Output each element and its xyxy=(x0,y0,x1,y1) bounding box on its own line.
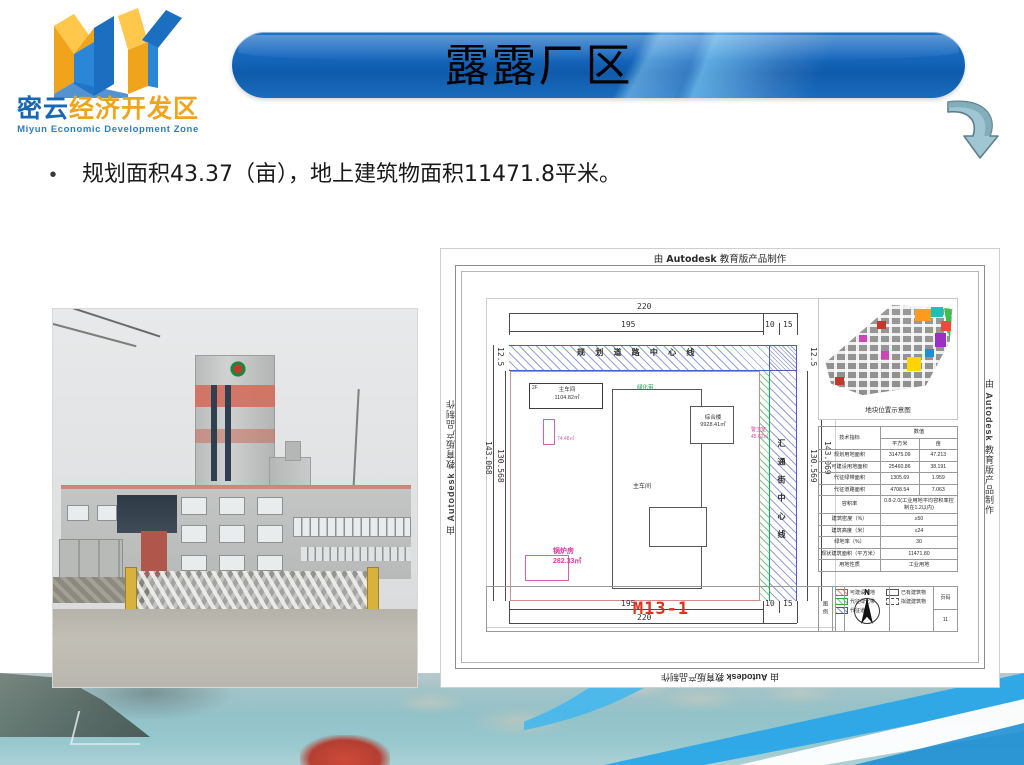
photo-window xyxy=(219,497,245,515)
cell-value: ≥50 xyxy=(881,514,958,526)
green-belt-band xyxy=(759,371,770,601)
dim-top-inner-line xyxy=(509,331,763,332)
th-unit-sqm: 平方米 xyxy=(881,438,920,450)
planned-road-centerline-label: 规 划 道 路 中 心 线 xyxy=(577,347,698,358)
table-row: 用地性质 工业用地 xyxy=(819,560,958,572)
locmap-parcel xyxy=(941,321,951,331)
parcel-code: M13-1 xyxy=(633,599,689,619)
building-workshop-area: 1104.82㎡ xyxy=(555,395,580,401)
legend-label: 拟建建筑物 xyxy=(901,598,926,605)
cell-mu: 38.191 xyxy=(919,461,958,473)
logo-chinese-name: 密云经济开发区 xyxy=(12,96,204,121)
cad-site-plan-sheet: 由 Autodesk 教育版产品制作 由 Autodesk 教育版产品制作 由 … xyxy=(440,248,1000,688)
photo-window xyxy=(181,497,207,515)
building-main-workshop xyxy=(612,389,702,589)
dim-right-inner-line xyxy=(807,371,808,601)
dim-top-outer-line xyxy=(509,313,797,314)
guard-room-name: 警卫室 xyxy=(751,427,766,433)
cell-name: 代征道路面积 xyxy=(819,484,881,496)
legend-item: 拟建建筑物 xyxy=(886,598,931,605)
building-sub-block xyxy=(649,507,707,547)
table-row: 现状建筑面积（平方米） 11471.80 xyxy=(819,548,958,560)
cell-name: 绿地率（%） xyxy=(819,537,881,549)
building-boiler-room-label: 锅炉房 282.33㎡ xyxy=(553,547,581,567)
locmap-parcel xyxy=(835,377,844,385)
sea-red-accent xyxy=(300,735,390,765)
photo-window xyxy=(97,505,117,521)
cell-sqm: 31475.09 xyxy=(881,450,920,462)
table-row: 建筑密度（%） ≥50 xyxy=(819,514,958,526)
green-belt-note: 绿化带 xyxy=(637,383,654,391)
cell-mu: 7.063 xyxy=(919,484,958,496)
locmap-parcel xyxy=(881,351,889,359)
dim-left-inner-line xyxy=(505,371,506,601)
dim-top-seg1: 10 xyxy=(765,320,775,329)
dim-top-seg2: 15 xyxy=(783,320,793,329)
bullet-item: • 规划面积43.37（亩），地上建筑物面积11471.8平米。 xyxy=(44,158,944,192)
legend-page-block: 页码 11 xyxy=(933,587,957,631)
bullet-marker: • xyxy=(44,165,62,185)
dim-left-small: 12.5 xyxy=(496,347,505,366)
dim-tick xyxy=(797,313,798,335)
north-arrow-block: N xyxy=(844,586,890,632)
photo-equipment-boxes xyxy=(59,539,123,579)
bullet-text: 规划面积43.37（亩），地上建筑物面积11471.8平米。 xyxy=(82,162,621,188)
page-title: 露露厂区 xyxy=(444,43,632,88)
photo-ribbon-window xyxy=(293,517,411,537)
legend-item: 已有建筑物 xyxy=(886,589,931,596)
cell-name: 现状建筑面积（平方米） xyxy=(819,548,881,560)
dim-left-inner: 130.568 xyxy=(496,449,505,483)
photo-tower-red-band-2 xyxy=(195,429,275,443)
table-row: 容积率 0.8-2.0(工业用地平均容积率控制在1.2以内) xyxy=(819,496,958,514)
table-header-row: 技术指标 数值 xyxy=(819,427,958,439)
boiler-name: 锅炉房 xyxy=(553,548,574,555)
cell-name: 代征绿带面积 xyxy=(819,473,881,485)
photo-company-logo xyxy=(229,361,247,377)
th-unit-mu: 亩 xyxy=(919,438,958,450)
cell-name: 建筑高度（米） xyxy=(819,525,881,537)
cell-name: 容积率 xyxy=(819,496,881,514)
cell-name: 用地性质 xyxy=(819,560,881,572)
photo-ribbon-window-2 xyxy=(301,547,411,561)
technical-indicator-table: 技术指标 数值 平方米 亩 规划用地面积 31475.09 47.213 可建设… xyxy=(818,426,958,572)
guard-room-area: 45.62㎡ xyxy=(751,434,769,440)
table-row: 可建设用地面积 25460.86 38.191 xyxy=(819,461,958,473)
cell-name: 建筑密度（%） xyxy=(819,514,881,526)
slide-root: 密云经济开发区 Miyun Economic Development Zone … xyxy=(0,0,1024,765)
my-monogram-icon xyxy=(36,6,186,98)
cell-sqm: 4708.54 xyxy=(881,484,920,496)
locmap-parcel xyxy=(935,333,946,347)
photo-window xyxy=(219,525,245,543)
table-row: 代征道路面积 4708.54 7.063 xyxy=(819,484,958,496)
building-workshop-name: 主车间 xyxy=(559,387,576,393)
photo-chimney xyxy=(285,441,301,461)
photo-window xyxy=(181,525,207,543)
photo-tower-stripe-2 xyxy=(225,385,231,481)
locmap-parcel xyxy=(877,321,886,329)
cell-mu: 47.213 xyxy=(919,450,958,462)
locmap-parcel xyxy=(915,309,931,321)
photo-window xyxy=(257,497,283,515)
cell-mu: 1.959 xyxy=(919,473,958,485)
photo-window xyxy=(257,555,283,571)
locmap-parcel xyxy=(907,357,921,371)
dim-top-inner: 195 xyxy=(621,320,635,329)
table-row: 代征绿带面积 1305.69 1.959 xyxy=(819,473,958,485)
sea-boat-shape xyxy=(70,711,148,745)
th-value-group: 数值 xyxy=(881,427,958,439)
cell-value: 11471.80 xyxy=(881,548,958,560)
photo-window xyxy=(257,525,283,543)
site-plan-panel: 220 195 10 15 规 划 道 路 中 心 线 汇 通 街 中 心 线 xyxy=(486,298,836,628)
location-map-panel: 地块位置示意图 xyxy=(818,298,958,420)
photo-tower-red-band xyxy=(195,385,275,407)
dim-tick xyxy=(779,323,780,335)
photo-window xyxy=(67,505,89,521)
photo-window xyxy=(181,555,207,571)
cad-watermark-top: 由 Autodesk 教育版产品制作 xyxy=(441,251,999,265)
table-row: 建筑高度（米） ≤24 xyxy=(819,525,958,537)
cell-value: 工业用地 xyxy=(881,560,958,572)
cell-value: 30 xyxy=(881,537,958,549)
guard-room-label: 警卫室 45.62㎡ xyxy=(751,427,769,440)
dim-left-outer-line xyxy=(493,345,494,601)
photo-window xyxy=(219,555,245,571)
legend-label: 已有建筑物 xyxy=(901,589,926,596)
legend-page-label: 页码 xyxy=(934,587,957,610)
dim-tick xyxy=(509,313,510,335)
dim-right-small: 12.5 xyxy=(809,347,818,366)
photo-ground xyxy=(53,609,418,688)
street-centerline-label: 汇 通 街 中 心 线 xyxy=(776,439,787,542)
photo-tower-stripe-1 xyxy=(211,385,217,481)
dim-tick xyxy=(763,313,764,335)
building-complex-label: 综合楼 9928.41㎡ xyxy=(690,415,736,430)
cell-sqm: 25460.86 xyxy=(881,461,920,473)
drawing-title-block: M13-1 xyxy=(486,586,836,632)
cell-sqm: 1305.69 xyxy=(881,473,920,485)
building-complex-area: 9928.41㎡ xyxy=(700,422,725,428)
building-workshop-label: 主车间 1104.82㎡ xyxy=(529,387,605,402)
factory-photo xyxy=(52,308,418,688)
logo-cn-part2: 经济开发区 xyxy=(69,94,199,123)
dim-top-outer: 220 xyxy=(637,302,651,311)
dim-left-outer: 143.068 xyxy=(484,441,493,475)
cell-value: ≤24 xyxy=(881,525,958,537)
table-row: 规划用地面积 31475.09 47.213 xyxy=(819,450,958,462)
photo-facade-stripe xyxy=(61,485,411,489)
building-main-workshop-label: 主车间 xyxy=(633,481,651,490)
building-small-pink xyxy=(543,419,555,445)
location-map-caption: 地块位置示意图 xyxy=(819,404,957,414)
organization-logo: 密云经济开发区 Miyun Economic Development Zone xyxy=(8,6,208,138)
locmap-parcel xyxy=(859,335,867,342)
legend-page-number: 11 xyxy=(934,610,957,632)
logo-english-name: Miyun Economic Development Zone xyxy=(8,124,208,135)
photo-retractable-gate xyxy=(131,571,371,613)
cell-name: 可建设用地面积 xyxy=(819,461,881,473)
dim-right-inner: 130.569 xyxy=(809,449,818,483)
th-indicator: 技术指标 xyxy=(819,427,881,450)
boiler-area: 282.33㎡ xyxy=(553,558,581,565)
locmap-parcel xyxy=(931,307,943,317)
photo-glass-curtain xyxy=(117,495,177,533)
north-label: N xyxy=(845,588,889,597)
title-banner: 露露厂区 xyxy=(232,32,965,98)
building-small-pink-area: 74.48㎡ xyxy=(557,435,575,442)
logo-cn-part1: 密云 xyxy=(17,94,69,123)
cad-watermark-bottom: 由 Autodesk 教育版产品制作 xyxy=(441,671,999,684)
cell-name: 规划用地面积 xyxy=(819,450,881,462)
building-complex-name: 综合楼 xyxy=(705,415,722,421)
table-row: 绿地率（%） 30 xyxy=(819,537,958,549)
locmap-parcel xyxy=(925,349,934,357)
cell-value: 0.8-2.0(工业用地平均容积率控制在1.2以内) xyxy=(881,496,958,514)
cad-inner-border: 220 195 10 15 规 划 道 路 中 心 线 汇 通 街 中 心 线 xyxy=(461,271,979,663)
